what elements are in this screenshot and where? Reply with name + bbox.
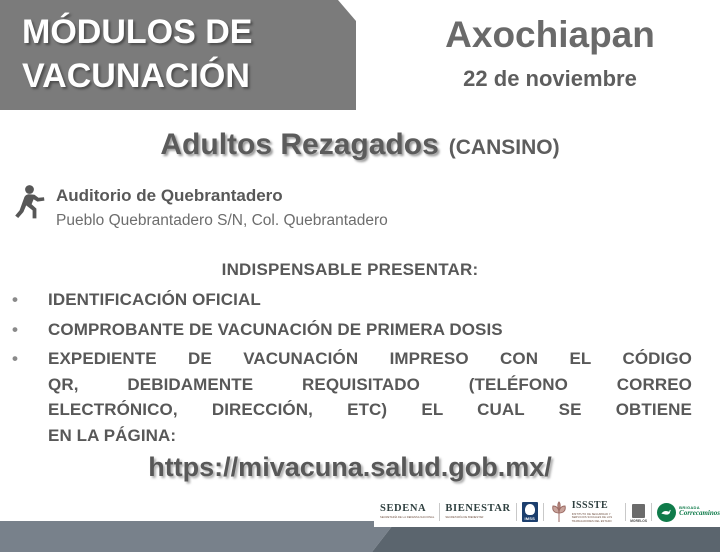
bienestar-logo: BIENESTAR SECRETARÍA DE BIENESTAR (445, 499, 510, 525)
audience-subtitle: Adultos Rezagados(CANSINO) (0, 128, 720, 162)
requirement-text-line-3: ELECTRÓNICO, DIRECCIÓN, ETC) EL CUAL SE … (48, 397, 692, 423)
flower-icon (549, 501, 569, 523)
correcaminos-wordmark: Correcaminos (679, 510, 720, 518)
footer-strip-left (0, 521, 420, 552)
brigada-correcaminos-logo: BRIGADA Correcaminos (657, 499, 720, 525)
city-name: Axochiapan (390, 14, 710, 56)
bullet-glyph: • (12, 317, 18, 343)
logo-divider (543, 503, 544, 521)
requirement-item-2: • COMPROBANTE DE VACUNACIÓN DE PRIMERA D… (8, 317, 708, 343)
issste-subtitle: INSTITUTO DE SEGURIDAD Y SERVICIOS SOCIA… (572, 513, 620, 524)
bullet-glyph: • (12, 287, 18, 313)
logo-divider (516, 503, 517, 521)
footer-logo-band: SEDENA SECRETARÍA DE LA DEFENSA NACIONAL… (374, 497, 720, 527)
logo-divider (625, 503, 626, 521)
vaccine-brand-label: (CANSINO) (449, 136, 560, 159)
imss-eagle-icon (525, 504, 535, 515)
morelos-shield-icon (632, 504, 645, 518)
requirement-text: IDENTIFICACIÓN OFICIAL (48, 290, 261, 309)
bienestar-subtitle: SECRETARÍA DE BIENESTAR (445, 516, 510, 520)
header-banner-title: MÓDULOS DE VACUNACIÓN (22, 10, 342, 98)
sedena-logo: SEDENA SECRETARÍA DE LA DEFENSA NACIONAL (380, 499, 434, 525)
requirement-item-3: • EXPEDIENTE DE VACUNACIÓN IMPRESO CON E… (8, 346, 708, 448)
pedestrian-running-icon (14, 184, 48, 220)
venue-name: Auditorio de Quebrantadero (56, 186, 283, 206)
banner-line-1: MÓDULOS DE (22, 13, 252, 51)
event-date: 22 de noviembre (390, 66, 710, 92)
imss-wordmark: IMSS (524, 516, 535, 521)
audience-label: Adultos Rezagados (160, 128, 438, 161)
bullet-glyph: • (12, 346, 18, 372)
vaccination-url[interactable]: https://mivacuna.salud.gob.mx/ (0, 452, 700, 483)
sedena-subtitle: SECRETARÍA DE LA DEFENSA NACIONAL (380, 516, 434, 520)
requirement-text-line-2: QR, DEBIDAMENTE REQUISITADO (TELÉFONO CO… (48, 372, 692, 398)
logo-divider (439, 503, 440, 521)
bienestar-flower-logo (549, 499, 569, 525)
sedena-wordmark: SEDENA (380, 504, 434, 515)
roadrunner-icon (657, 503, 676, 522)
requirement-item-1: • IDENTIFICACIÓN OFICIAL (8, 287, 708, 313)
vaccination-module-poster: MÓDULOS DE VACUNACIÓN Axochiapan 22 de n… (0, 0, 720, 552)
requirement-text-line-4: EN LA PÁGINA: (48, 423, 692, 449)
morelos-wordmark: MORELOS (630, 519, 647, 523)
issste-wordmark: ISSSTE (572, 501, 620, 511)
issste-logo: ISSSTE INSTITUTO DE SEGURIDAD Y SERVICIO… (572, 499, 620, 525)
logo-divider (651, 503, 652, 521)
requirements-list: • IDENTIFICACIÓN OFICIAL • COMPROBANTE D… (8, 287, 708, 452)
venue-address: Pueblo Quebrantadero S/N, Col. Quebranta… (56, 212, 388, 230)
morelos-logo: MORELOS (631, 499, 646, 525)
requirement-text-line-1: EXPEDIENTE DE VACUNACIÓN IMPRESO CON EL … (48, 346, 692, 372)
requirement-text: COMPROBANTE DE VACUNACIÓN DE PRIMERA DOS… (48, 320, 503, 339)
requirements-heading: INDISPENSABLE PRESENTAR: (0, 260, 700, 280)
bienestar-wordmark: BIENESTAR (445, 504, 510, 515)
imss-logo: IMSS (522, 499, 538, 525)
banner-line-2: VACUNACIÓN (22, 54, 342, 98)
